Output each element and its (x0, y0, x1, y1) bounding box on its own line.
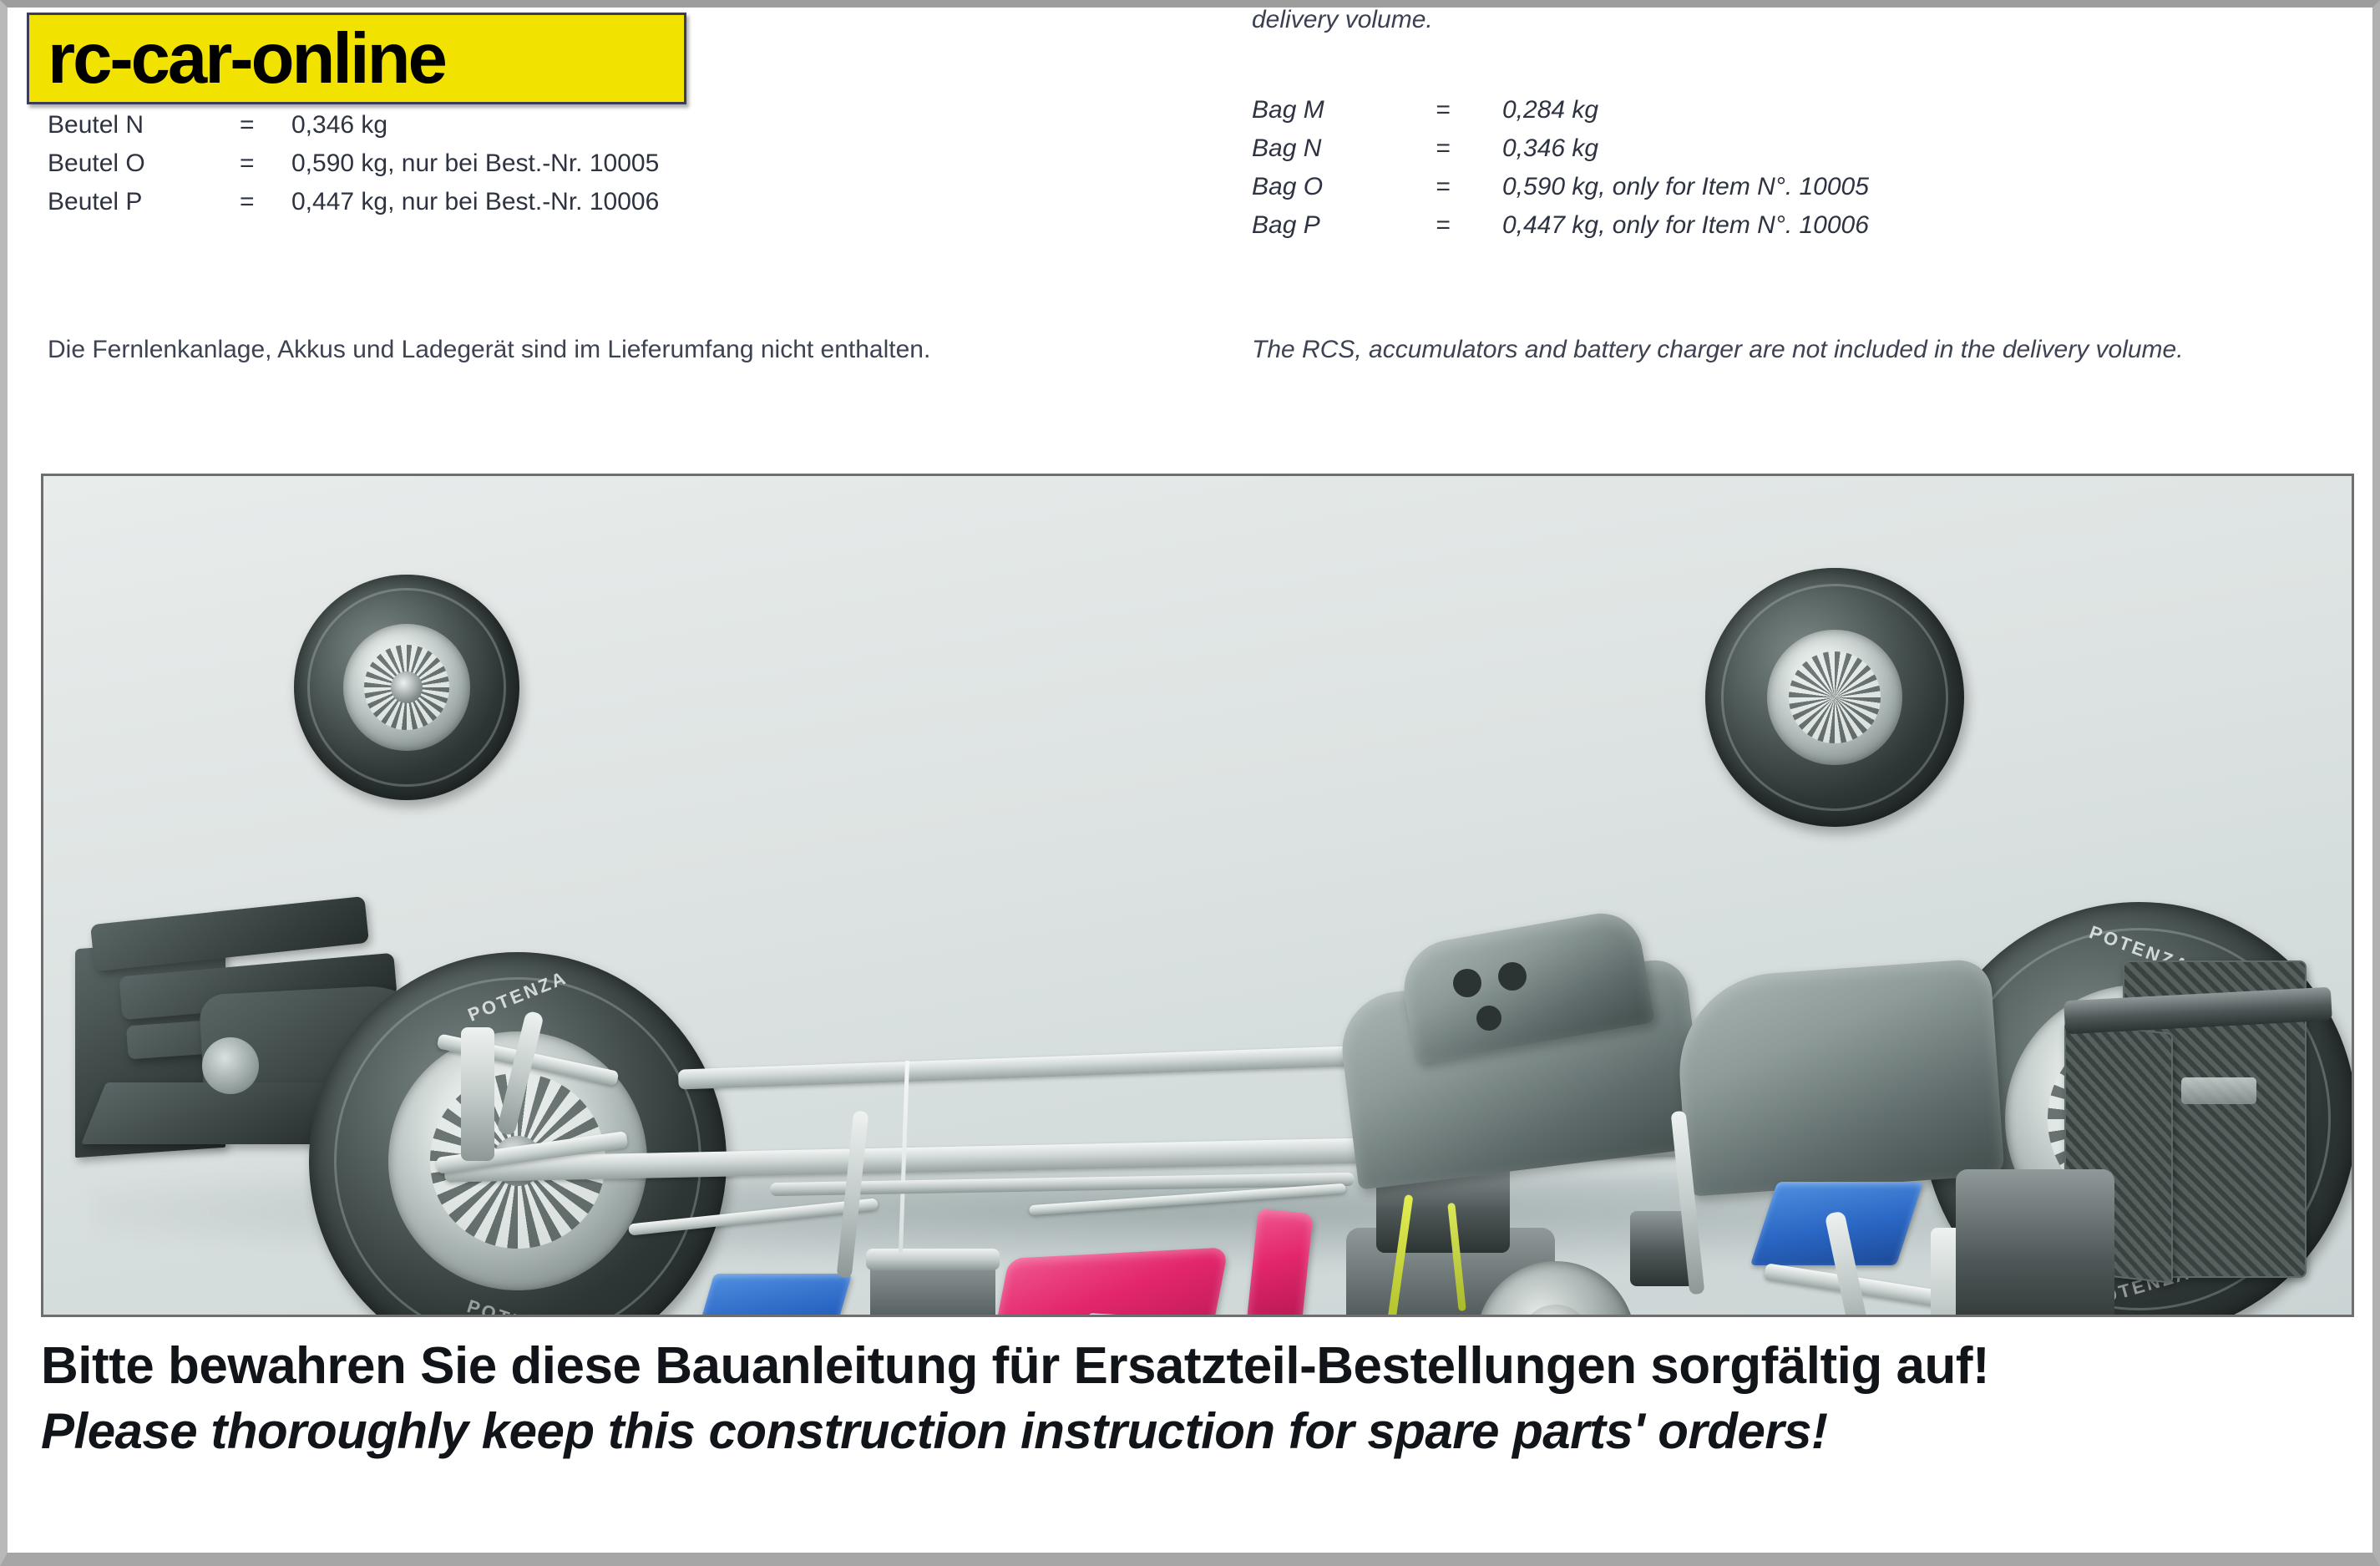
driveshaft (1697, 1315, 1964, 1317)
watermark-label: rc-car-online (29, 23, 445, 94)
caption-english: Please thoroughly keep this construction… (41, 1399, 2362, 1464)
bag-equals: = (240, 106, 291, 144)
rear-wing-badge (2181, 1077, 2256, 1104)
bag-row: Bag M = 0,284 kg (1252, 91, 1869, 129)
bag-value: 0,590 kg, only for Item N°. 10005 (1502, 168, 1869, 206)
fuel-tank (990, 1247, 1229, 1317)
product-photo: POTENZA POTENZA POTENZA POTENZA (41, 474, 2354, 1317)
bag-name: Bag P (1252, 206, 1436, 245)
bag-row: Bag O = 0,590 kg, only for Item N°. 1000… (1252, 168, 1869, 206)
gearbox-housing (1956, 1169, 2114, 1317)
bag-name: Bag O (1252, 168, 1436, 206)
english-intro-line: delivery volume. (1252, 1, 1433, 39)
bag-value: 0,447 kg, only for Item N°. 10006 (1502, 206, 1869, 245)
english-intro-text: delivery volume. (1252, 1, 1433, 39)
bag-value: 0,284 kg (1502, 91, 1869, 129)
front-wing-logo-disc (202, 1037, 259, 1094)
bag-name: Beutel P (48, 183, 240, 221)
bag-row: Beutel O = 0,590 kg, nur bei Best.-Nr. 1… (48, 144, 659, 183)
bag-row: Beutel P = 0,447 kg, nur bei Best.-Nr. 1… (48, 183, 659, 221)
bag-name: Bag M (1252, 91, 1436, 129)
bag-equals: = (1436, 168, 1502, 206)
keep-instructions-caption: Bitte bewahren Sie diese Bauanleitung fü… (41, 1334, 2362, 1464)
english-bag-weight-list: Bag M = 0,284 kg Bag N = 0,346 kg Bag O … (1252, 91, 1869, 245)
receiver-box-lid (866, 1249, 1000, 1270)
front-left-tyre (294, 575, 519, 800)
bag-equals: = (1436, 206, 1502, 245)
caption-german: Bitte bewahren Sie diese Bauanleitung fü… (41, 1334, 2362, 1399)
rear-left-rim (1767, 630, 1901, 764)
bag-value: 0,447 kg, nur bei Best.-Nr. 10006 (291, 183, 659, 221)
bag-equals: = (1436, 129, 1502, 168)
page-frame: Beutel M = 0,284 kg Beutel N = 0,346 kg … (0, 0, 2380, 1566)
german-note-block: Die Fernlenkanlage, Akkus und Ladegerät … (48, 329, 930, 371)
bag-value: 0,346 kg (291, 106, 659, 144)
bag-row: Beutel N = 0,346 kg (48, 106, 659, 144)
bag-row: Bag N = 0,346 kg (1252, 129, 1869, 168)
bag-equals: = (1436, 91, 1502, 129)
bag-equals: = (240, 183, 291, 221)
front-servo-block (692, 1274, 852, 1317)
bag-name: Beutel N (48, 106, 240, 144)
bag-name: Beutel O (48, 144, 240, 183)
bag-row: Bag P = 0,447 kg, only for Item N°. 1000… (1252, 206, 1869, 245)
instruction-sheet: Beutel M = 0,284 kg Beutel N = 0,346 kg … (8, 8, 2372, 1553)
airbox-vent-hole-1 (1453, 969, 1481, 997)
front-upright (461, 1027, 494, 1161)
rear-left-tyre (1705, 568, 1964, 827)
english-note-paragraph: The RCS, accumulators and battery charge… (1252, 329, 2184, 371)
bag-name: Bag N (1252, 129, 1436, 168)
bag-value: 0,346 kg (1502, 129, 1869, 168)
front-left-hub (391, 672, 423, 703)
rc-car-online-watermark-logo: rc-car-online (27, 13, 686, 104)
bag-equals: = (240, 144, 291, 183)
airbox-vent-hole-3 (1476, 1006, 1501, 1031)
english-note-block: The RCS, accumulators and battery charge… (1252, 329, 2184, 371)
side-pod (1673, 958, 2004, 1197)
german-note-paragraph: Die Fernlenkanlage, Akkus und Ladegerät … (48, 329, 930, 371)
airbox-vent-hole-2 (1498, 962, 1527, 991)
fuel-tank-filler-neck (1247, 1209, 1313, 1317)
bag-value: 0,590 kg, nur bei Best.-Nr. 10005 (291, 144, 659, 183)
